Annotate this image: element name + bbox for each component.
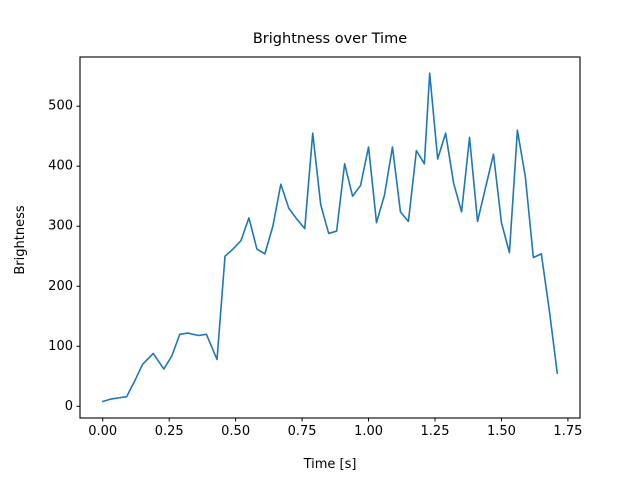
y-tick-label: 200 [48, 279, 73, 294]
x-tick-label: 0.25 [155, 424, 184, 439]
y-tick-label: 0 [65, 399, 73, 414]
y-tick-label: 100 [48, 339, 73, 354]
y-tick-label: 500 [48, 99, 73, 114]
y-tick-label: 400 [48, 159, 73, 174]
x-tick-label: 1.50 [487, 424, 516, 439]
x-tick-label: 0.75 [288, 424, 317, 439]
x-tick-label: 1.75 [553, 424, 582, 439]
x-axis-label: Time [s] [303, 457, 357, 472]
y-axis-ticks: 0100200300400500 [48, 99, 80, 414]
brightness-series-line [103, 73, 558, 401]
chart-title: Brightness over Time [253, 31, 407, 47]
y-axis-label: Brightness [13, 205, 28, 274]
y-tick-label: 300 [48, 219, 73, 234]
matplotlib-figure: Brightness over Time Time [s] Brightness… [0, 0, 640, 480]
line-chart: Brightness over Time Time [s] Brightness… [0, 0, 640, 480]
x-tick-label: 0.00 [88, 424, 117, 439]
x-tick-label: 1.00 [354, 424, 383, 439]
x-tick-label: 0.50 [221, 424, 250, 439]
x-tick-label: 1.25 [421, 424, 450, 439]
x-axis-ticks: 0.000.250.500.751.001.251.501.75 [88, 418, 582, 439]
